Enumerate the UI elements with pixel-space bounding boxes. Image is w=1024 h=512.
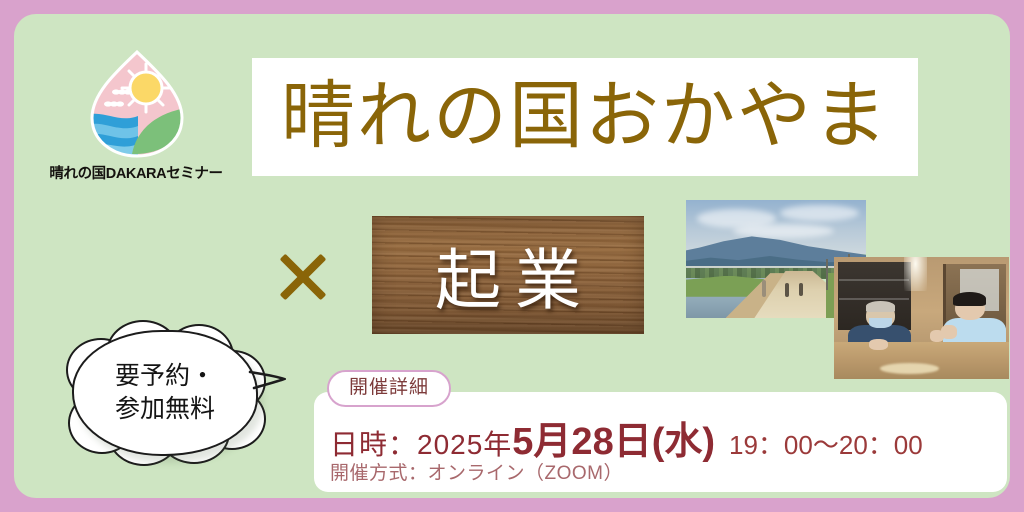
photo-lamp-glow xyxy=(904,257,927,291)
reservation-bubble: 要予約・ 参加無料 xyxy=(72,330,258,456)
photo-shelf-line xyxy=(839,279,909,281)
seminar-logo: 晴れの国DAKARAセミナー xyxy=(36,50,236,190)
datetime-date: 5月28日(水) xyxy=(512,410,715,465)
photo-hand xyxy=(869,339,888,350)
photo-cloud xyxy=(733,224,834,238)
bubble-line-2: 参加無料 xyxy=(115,395,215,425)
photo-hand xyxy=(930,330,944,342)
photo-cloud xyxy=(780,205,859,222)
status-badge: 開催詳細 xyxy=(327,370,451,407)
photo-face-mask xyxy=(869,318,892,328)
multiply-icon xyxy=(272,246,334,308)
datetime-time: 19：00〜20：00 xyxy=(729,425,923,462)
datetime-prefix: 日時：2025年 xyxy=(330,423,512,463)
photo-person xyxy=(762,280,766,297)
photo-person xyxy=(785,283,789,297)
poster-root: 晴れの国DAKARAセミナー 晴れの国おかやま 起業 xyxy=(0,0,1024,512)
page-title: 晴れの国おかやま xyxy=(281,80,889,154)
photo-person xyxy=(799,283,803,296)
bubble-text: 要予約・ 参加無料 xyxy=(72,330,258,456)
wood-sign-text: 起業 xyxy=(372,216,644,334)
bubble-line-1: 要予約・ xyxy=(115,362,215,392)
photo-person-right-hair xyxy=(953,292,986,305)
event-format: 開催方式：オンライン（ZOOM） xyxy=(330,458,623,485)
logo-caption: 晴れの国DAKARAセミナー xyxy=(36,162,236,183)
photo-shelf-line xyxy=(839,298,909,300)
photo-utility-pole xyxy=(826,259,828,290)
wood-sign: 起業 xyxy=(372,216,644,334)
main-title-box: 晴れの国おかやま xyxy=(252,58,918,176)
bubble-tail-icon xyxy=(248,368,286,390)
photo-person-left-hair xyxy=(866,301,896,312)
poster-inner-panel: 晴れの国DAKARAセミナー 晴れの国おかやま 起業 xyxy=(14,14,1010,498)
event-datetime: 日時：2025年 5月28日(水) 19：00〜20：00 xyxy=(330,410,923,465)
workshop-craft-photo xyxy=(834,257,1009,379)
peach-sun-water-leaf-logo-icon xyxy=(88,50,186,158)
